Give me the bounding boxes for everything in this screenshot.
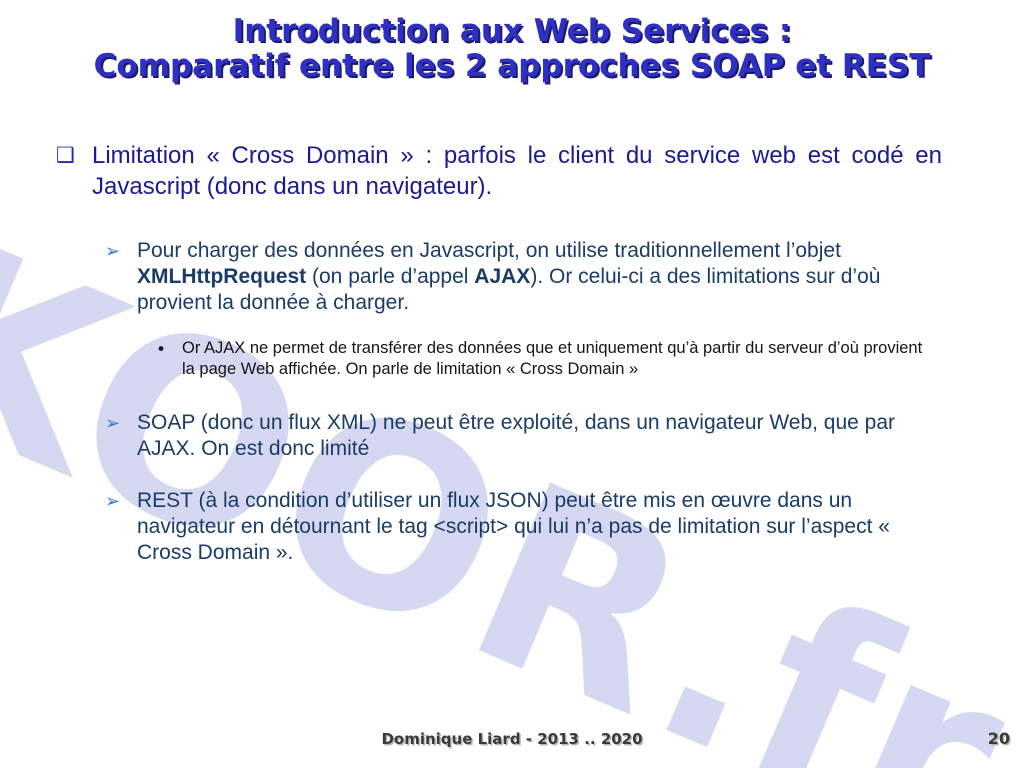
bullet-level2-text: REST (à la condition d’utiliser un flux …: [137, 488, 984, 566]
footer-author-label: Dominique Liard - 2013 .. 2020: [0, 728, 1024, 750]
hollow-square-bullet-icon: ❑: [56, 140, 86, 170]
spacer: [0, 462, 1024, 488]
bullet-level2-rest: ➢ REST (à la condition d’utiliser un flu…: [0, 488, 984, 566]
slide-body: ❑ Limitation « Cross Domain » : parfois …: [0, 140, 1024, 566]
page-title: Introduction aux Web Services : Comparat…: [0, 14, 1024, 83]
bullet-level2-text: Pour charger des données en Javascript, …: [137, 238, 984, 316]
bullet-level2-soap: ➢ SOAP (donc un flux XML) ne peut être e…: [0, 410, 984, 462]
slide-canvas: KOOR.fr Introduction aux Web Services : …: [0, 0, 1024, 768]
spacer: [0, 316, 1024, 338]
bullet-level1-limitation: ❑ Limitation « Cross Domain » : parfois …: [0, 140, 984, 202]
spacer: [0, 202, 1024, 238]
bullet-level2-text: SOAP (donc un flux XML) ne peut être exp…: [137, 410, 984, 462]
spacer: [0, 380, 1024, 410]
footer-page-number: 20: [988, 728, 1010, 750]
bullet-level3-ajax-transfert: • Or AJAX ne permet de transférer des do…: [0, 338, 984, 380]
arrow-bullet-icon: ➢: [105, 238, 133, 266]
round-dot-bullet-icon: •: [156, 338, 180, 362]
slide-footer: Dominique Liard - 2013 .. 2020 20: [0, 728, 1024, 756]
bullet-level2-xmlhttprequest: ➢ Pour charger des données en Javascript…: [0, 238, 984, 316]
title-line-2: Comparatif entre les 2 approches SOAP et…: [0, 49, 1024, 84]
title-line-1: Introduction aux Web Services :: [0, 14, 1024, 49]
bullet-level3-text: Or AJAX ne permet de transférer des donn…: [182, 338, 984, 380]
arrow-bullet-icon: ➢: [105, 488, 133, 516]
arrow-bullet-icon: ➢: [105, 410, 133, 438]
bullet-level1-text: Limitation « Cross Domain » : parfois le…: [92, 140, 984, 202]
